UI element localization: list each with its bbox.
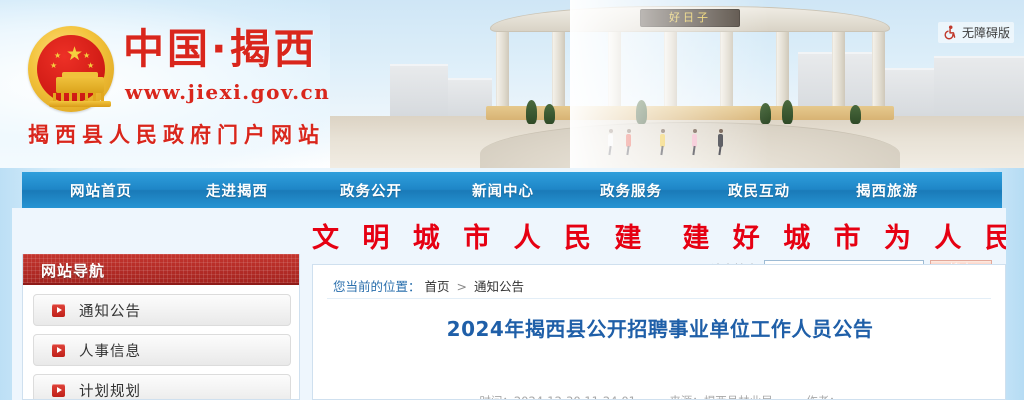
article-author-label: 作者：	[806, 394, 841, 400]
accessibility-link[interactable]: 无障碍版	[938, 22, 1014, 43]
nav-item-interact[interactable]: 政民互动	[720, 180, 798, 201]
nav-item-news[interactable]: 新闻中心	[464, 180, 542, 201]
emblem-base	[49, 101, 111, 107]
sidebar-item-label: 计划规划	[79, 380, 141, 400]
nav-item-tourism[interactable]: 揭西旅游	[848, 180, 926, 201]
nav-item-services[interactable]: 政务服务	[592, 180, 670, 201]
emblem-star-small: ★	[87, 62, 94, 70]
play-square-icon	[52, 304, 65, 317]
emblem-star-small: ★	[50, 62, 57, 70]
content-area: 文 明 城 市 人 民 建 建 好 城 市 为 人 民 站内搜索 搜索 网站导航…	[12, 208, 1006, 400]
sidebar-item-label: 通知公告	[79, 300, 141, 321]
page-root: 好日子	[0, 0, 1024, 400]
site-title-cn: 中国·揭西	[123, 28, 318, 71]
play-square-icon	[52, 344, 65, 357]
article-title: 2024年揭西县公开招聘事业单位工作人员公告	[313, 313, 1006, 342]
site-header: 好日子	[0, 0, 1024, 168]
article-source-label: 来源：	[669, 394, 704, 400]
breadcrumb-home[interactable]: 首页	[425, 279, 450, 294]
nav-item-home[interactable]: 网站首页	[62, 180, 140, 201]
site-url: www.jiexi.gov.cn	[125, 80, 330, 104]
accessibility-label: 无障碍版	[962, 24, 1010, 41]
emblem-star-small: ★	[83, 52, 90, 60]
main-panel: 您当前的位置： 首页 > 通知公告 2024年揭西县公开招聘事业单位工作人员公告…	[312, 264, 1006, 400]
emblem-tiananmen	[56, 77, 104, 93]
article-time-value: 2024-12-30 11:24:01	[514, 394, 636, 400]
emblem-disc: ★ ★ ★ ★ ★	[37, 35, 105, 103]
emblem-star-small: ★	[54, 52, 61, 60]
article-time-label: 时间：	[479, 394, 514, 400]
breadcrumb-divider	[327, 298, 991, 299]
banner-photo: 好日子	[330, 0, 1024, 168]
breadcrumb-current[interactable]: 通知公告	[474, 279, 524, 294]
national-emblem-icon: ★ ★ ★ ★ ★	[28, 26, 114, 112]
main-navigation: 网站首页 走进揭西 政务公开 新闻中心 政务服务 政民互动 揭西旅游	[22, 172, 1002, 208]
site-subtitle: 揭西县人民政府门户网站	[28, 119, 325, 149]
tree-icon	[544, 104, 555, 124]
sidebar-item-label: 人事信息	[79, 340, 141, 361]
nav-item-affairs[interactable]: 政务公开	[332, 180, 410, 201]
emblem-star-large: ★	[66, 45, 83, 64]
breadcrumb-separator: >	[457, 279, 467, 294]
tree-icon	[850, 105, 861, 124]
banner-fade-overlay	[570, 0, 770, 168]
slogan-banner: 文 明 城 市 人 民 建 建 好 城 市 为 人 民	[312, 208, 1006, 264]
wheelchair-icon	[942, 25, 957, 40]
article-meta: 时间：2024-12-30 11:24:01 来源：揭西县林业局 作者：	[313, 393, 1006, 400]
sidebar-heading: 网站导航	[23, 254, 300, 285]
breadcrumb-lead: 您当前的位置：	[333, 279, 421, 294]
slogan-text: 文 明 城 市 人 民 建 建 好 城 市 为 人 民	[312, 216, 1006, 255]
sidebar-item-planning[interactable]: 计划规划	[33, 374, 291, 400]
sidebar-item-personnel[interactable]: 人事信息	[33, 334, 291, 366]
tree-icon	[526, 100, 537, 124]
sidebar-navigation: 网站导航 通知公告 人事信息 计划规划	[22, 254, 300, 400]
sidebar-heading-label: 网站导航	[41, 260, 105, 281]
nav-item-about[interactable]: 走进揭西	[198, 180, 276, 201]
article-source-value: 揭西县林业局	[704, 394, 773, 400]
play-square-icon	[52, 384, 65, 397]
breadcrumb: 您当前的位置： 首页 > 通知公告	[333, 276, 524, 295]
sidebar-item-notices[interactable]: 通知公告	[33, 294, 291, 326]
site-logo-block[interactable]: ★ ★ ★ ★ ★ 中国·揭西 www.jiexi.gov.cn 揭西县人民政府…	[18, 14, 318, 154]
tree-icon	[782, 100, 793, 124]
